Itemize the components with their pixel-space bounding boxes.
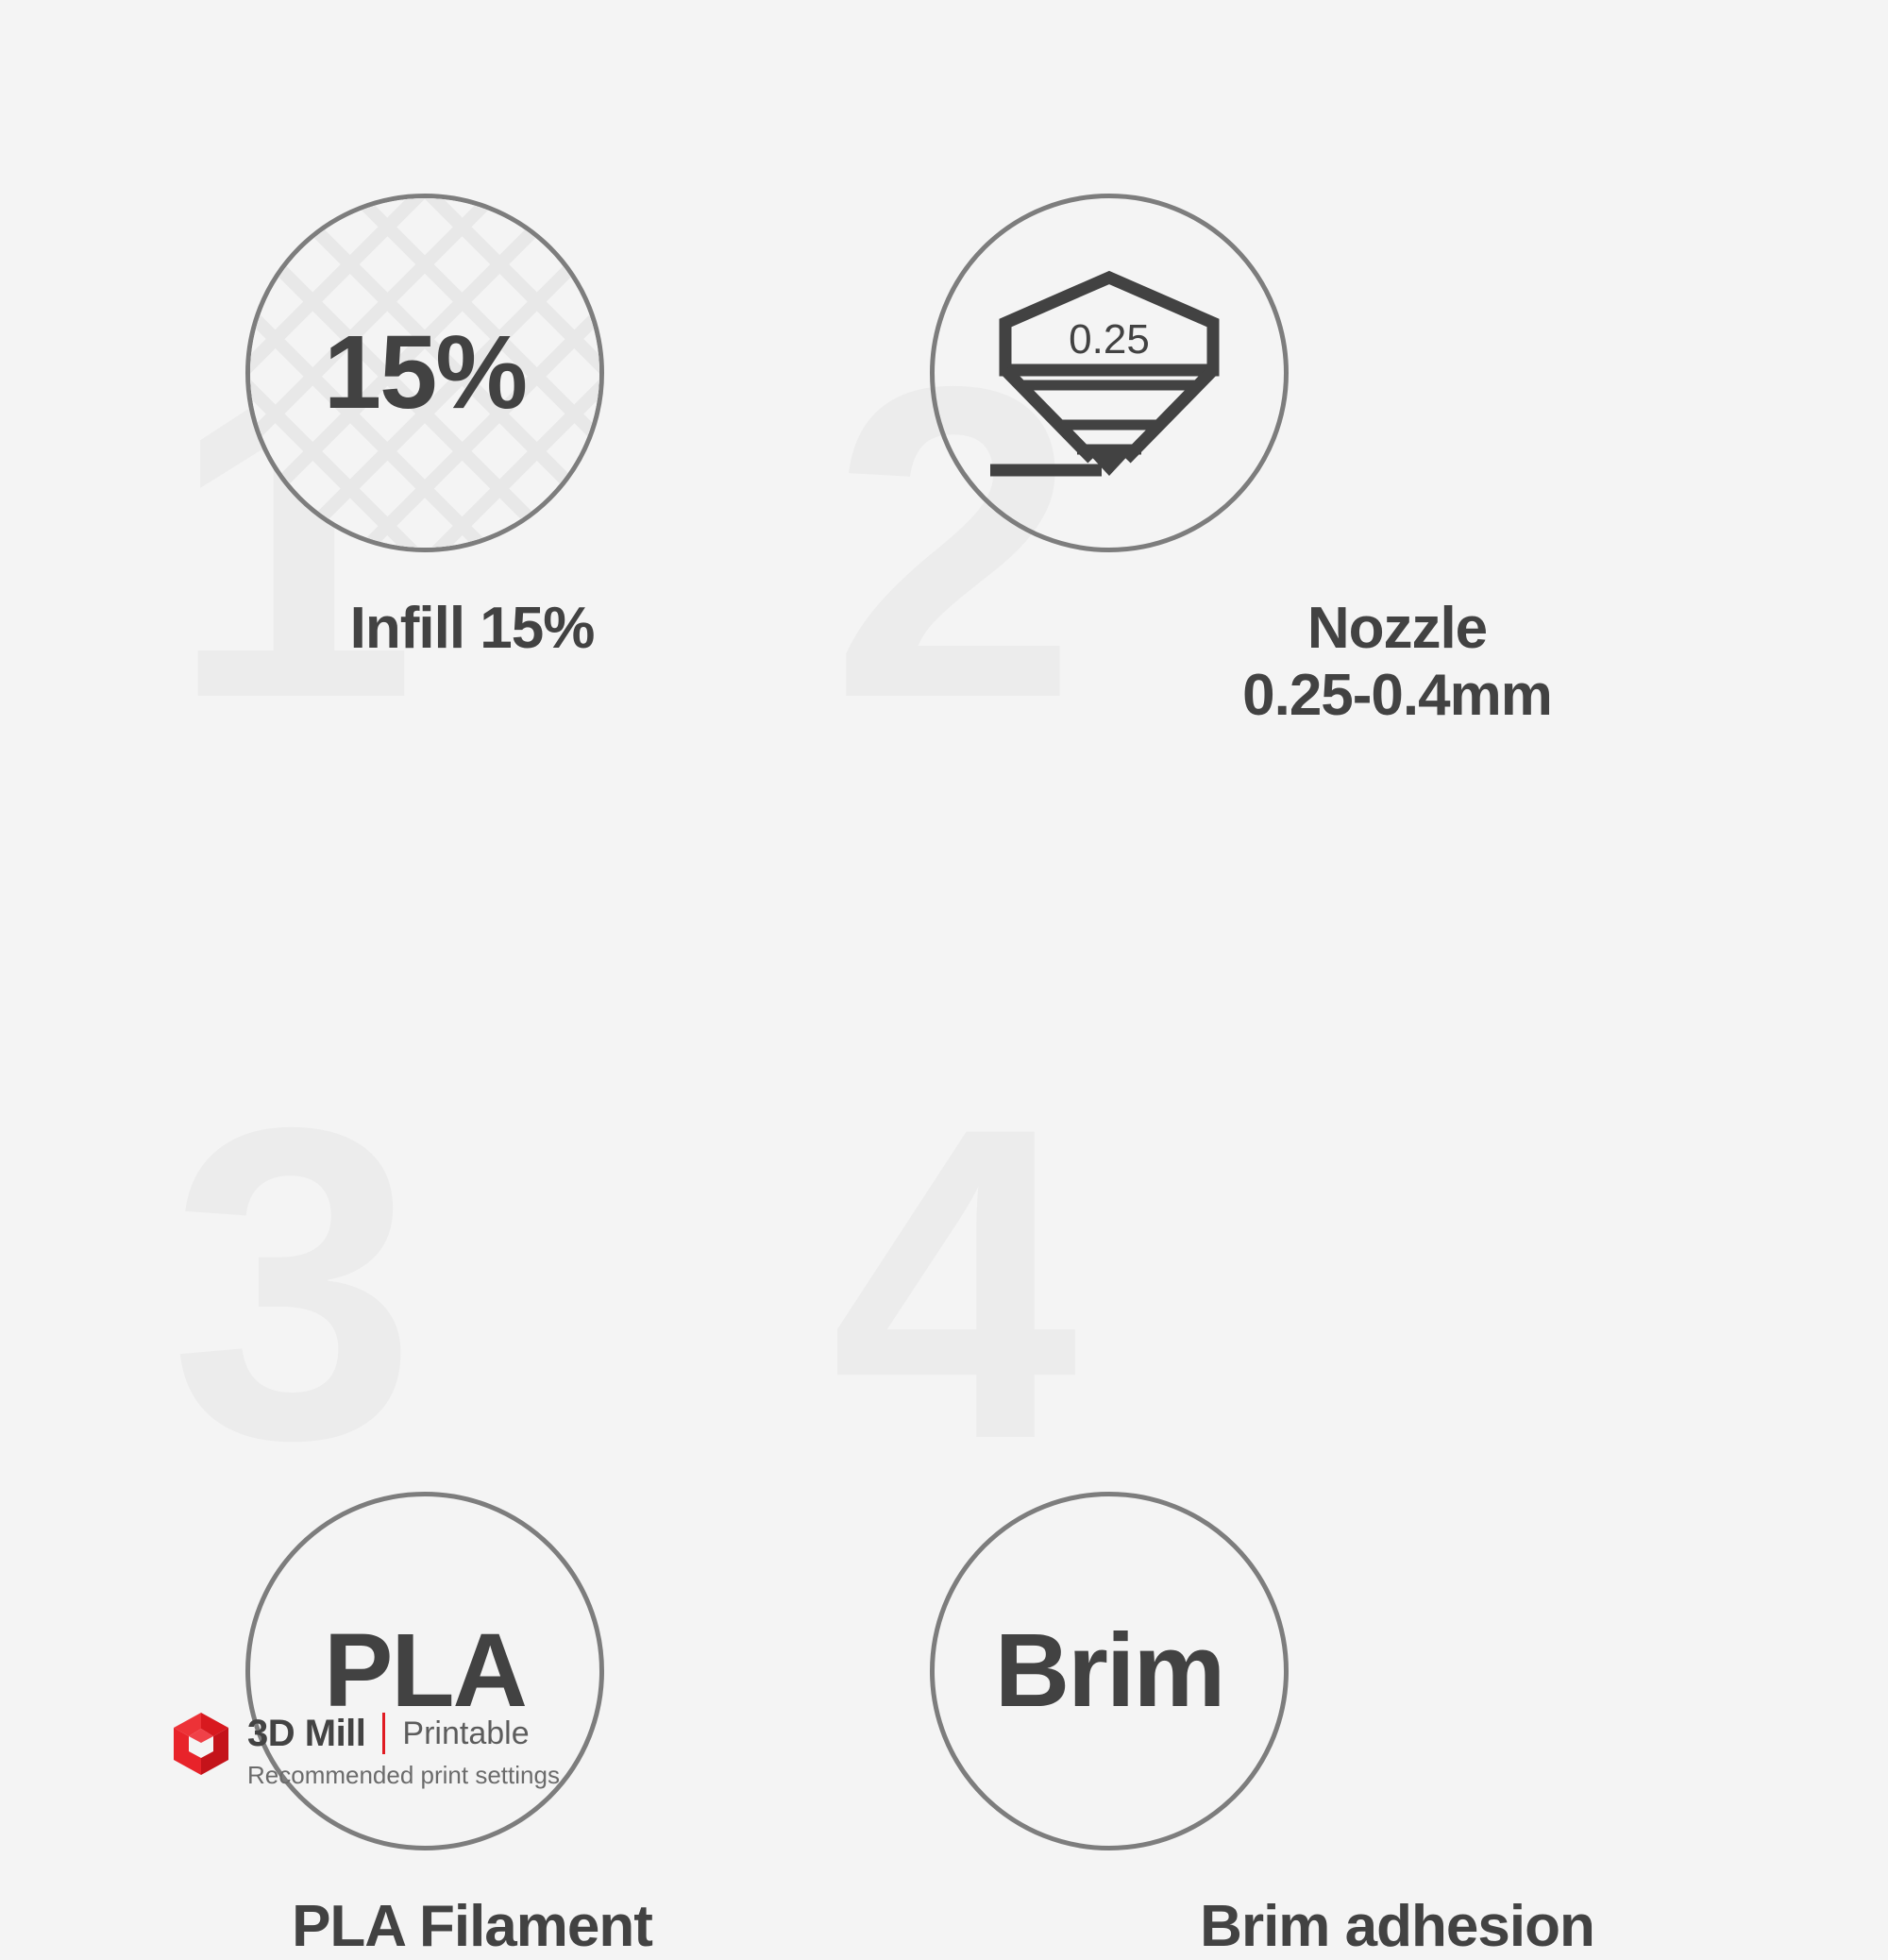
nozzle-caption: Nozzle 0.25-0.4mm (925, 595, 1869, 730)
cube-m-logo-icon (172, 1711, 230, 1777)
setting-card-filament[interactable]: 3 PLA PLA Filament (0, 878, 944, 1614)
nozzle-icon: 0.25 (986, 264, 1232, 482)
infill-circle[interactable]: 15% (245, 194, 604, 552)
settings-grid: 1 15% Infill 15% 2 (0, 142, 1888, 1614)
nozzle-diameter-text: 0.25 (1069, 316, 1150, 363)
brand-row: 3D Mill Printable (247, 1711, 560, 1756)
infill-caption: Infill 15% (0, 595, 944, 662)
setting-card-infill[interactable]: 1 15% Infill 15% (0, 142, 944, 878)
infographic-canvas: 1 15% Infill 15% 2 (0, 0, 1888, 1888)
filament-circle[interactable]: PLA (245, 1492, 604, 1850)
brand-divider (382, 1713, 385, 1754)
filament-caption: PLA Filament (0, 1893, 944, 1960)
brand-subtitle: Recommended print settings (247, 1762, 560, 1789)
filament-caption-line1: PLA Filament (0, 1893, 944, 1960)
nozzle-circle[interactable]: 0.25 (930, 194, 1289, 552)
brim-caption-line1: Brim adhesion (925, 1893, 1869, 1960)
step-number-watermark-3: 3 (170, 1062, 407, 1506)
infill-caption-line1: Infill 15% (0, 595, 944, 662)
nozzle-caption-line1: Nozzle (925, 595, 1869, 662)
brand-tag: Printable (402, 1717, 529, 1749)
step-number-watermark-4: 4 (831, 1062, 1068, 1506)
brim-caption: Brim adhesion (925, 1893, 1869, 1960)
footer-branding: 3D Mill Printable Recommended print sett… (172, 1711, 560, 1789)
setting-card-nozzle[interactable]: 2 (944, 142, 1888, 878)
brim-value-label: Brim (995, 1619, 1224, 1723)
setting-card-brim[interactable]: 4 Brim Brim adhesion (944, 878, 1888, 1614)
brim-circle[interactable]: Brim (930, 1492, 1289, 1850)
brand-text-block: 3D Mill Printable Recommended print sett… (247, 1711, 560, 1789)
filament-value-label: PLA (324, 1619, 526, 1723)
brand-name: 3D Mill (247, 1715, 365, 1752)
nozzle-caption-line2: 0.25-0.4mm (925, 662, 1869, 729)
infill-value-label: 15% (324, 321, 526, 425)
